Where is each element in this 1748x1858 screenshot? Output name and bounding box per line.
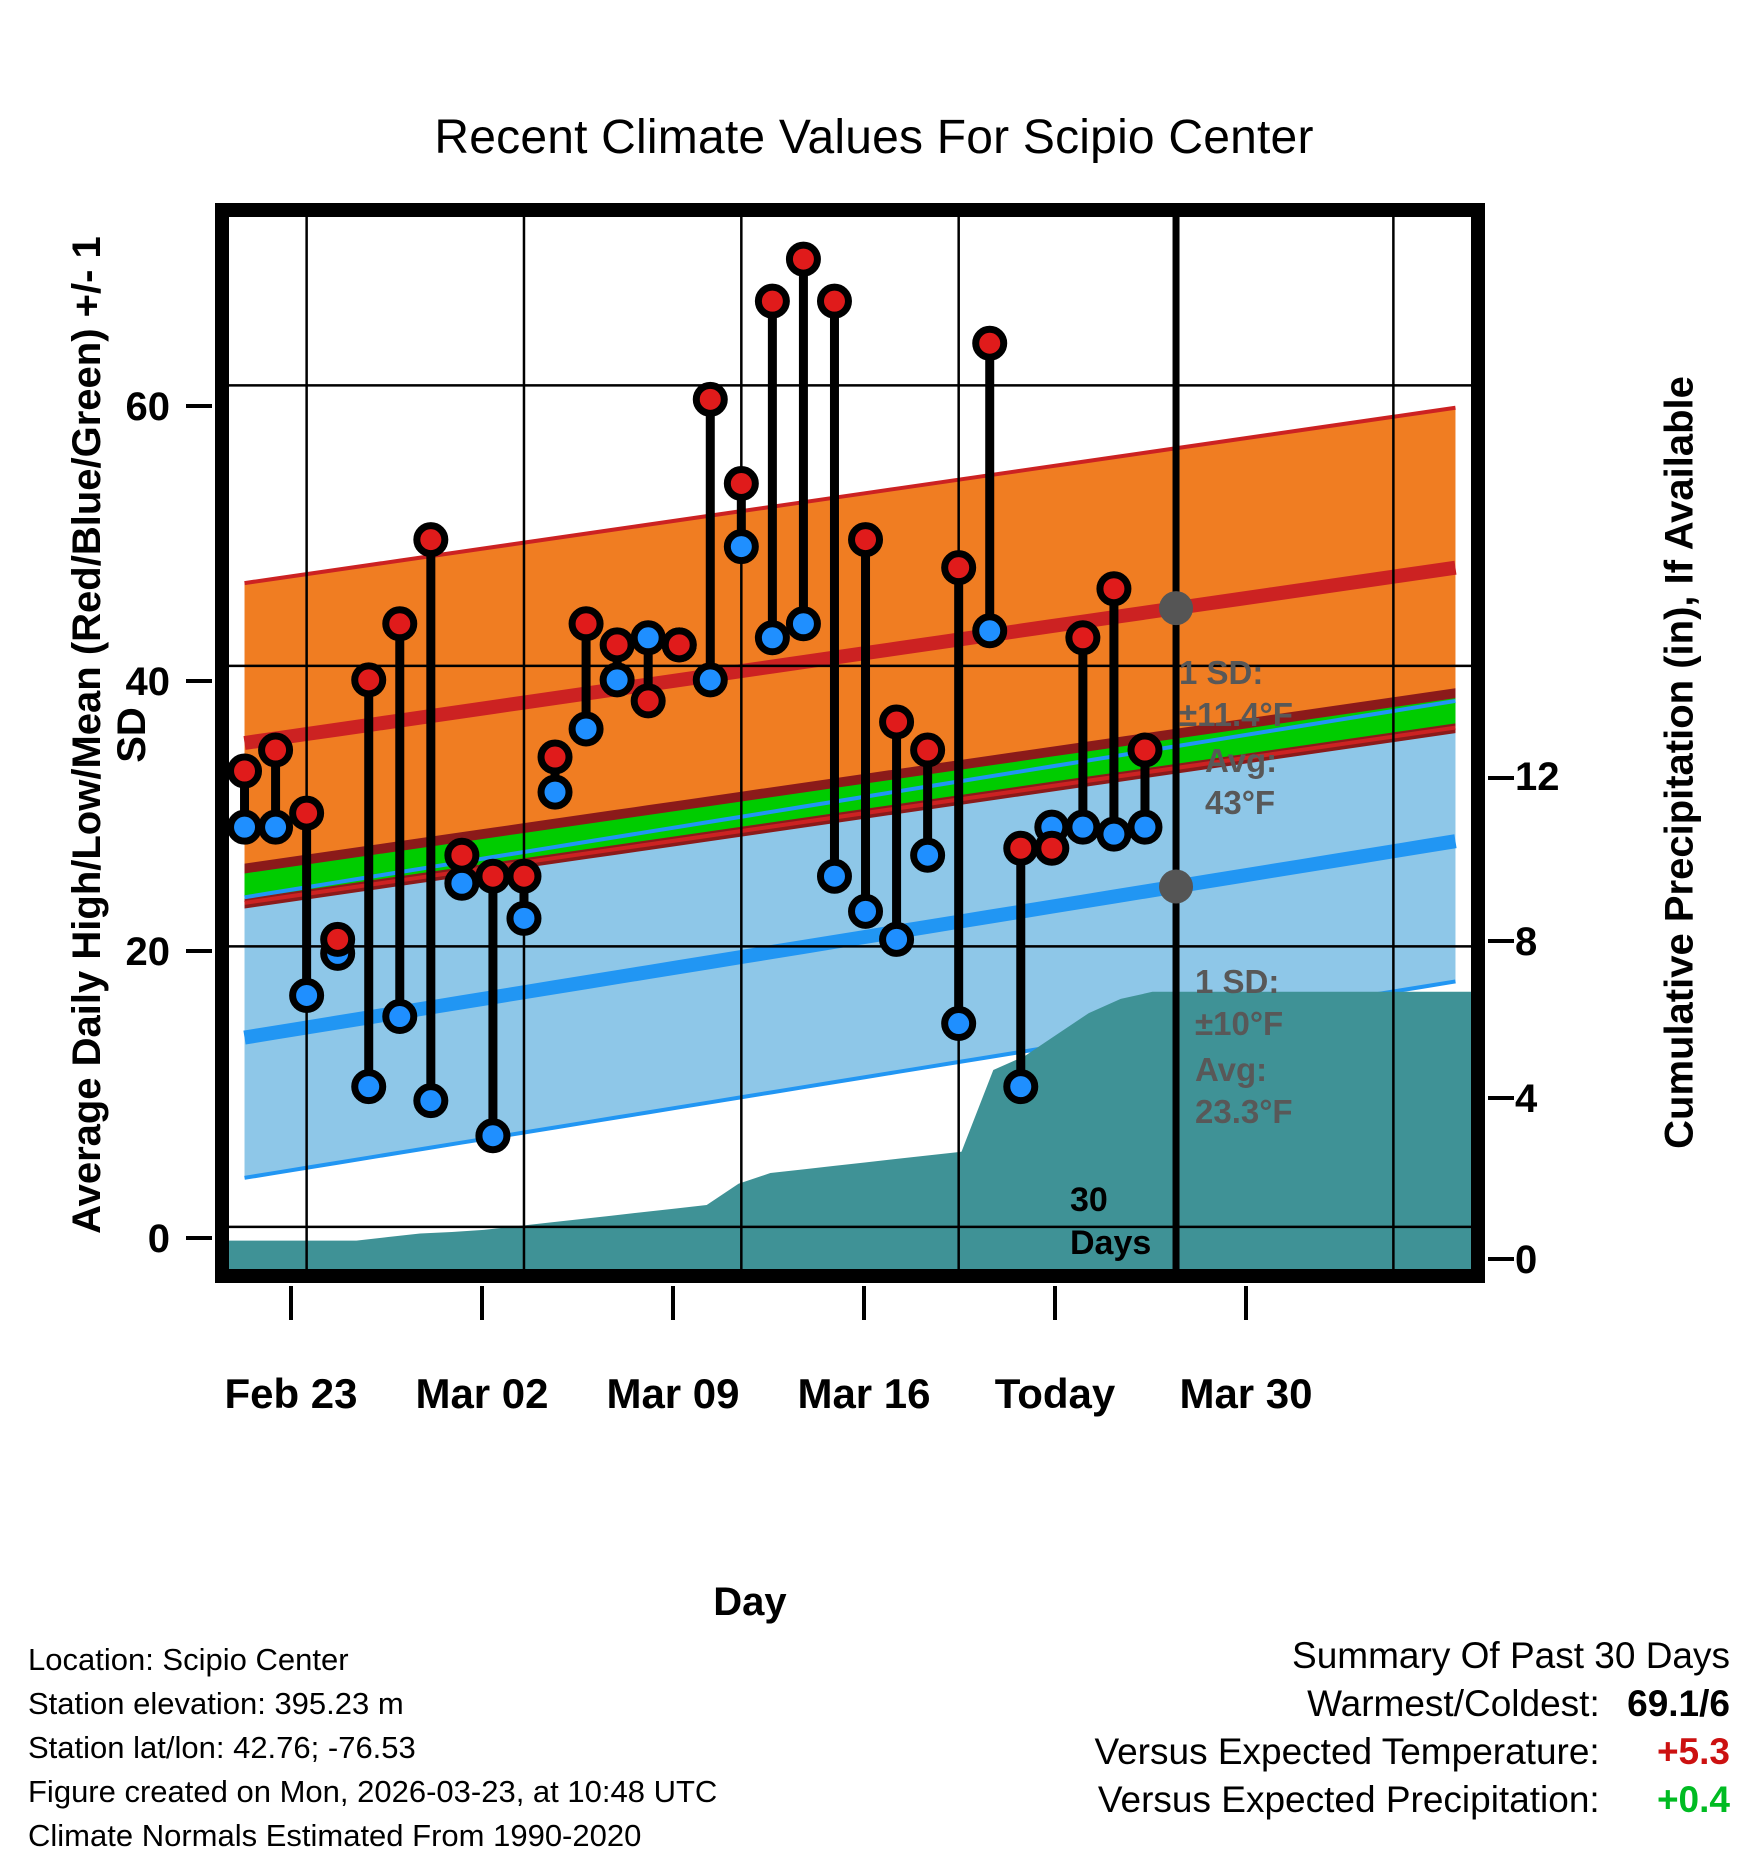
climate-plot (215, 203, 1485, 1283)
y-tick-mark-left-60 (186, 404, 212, 408)
high-avg-label: Avg: (1205, 742, 1277, 780)
y-tick-right-0: 0 (1515, 1238, 1645, 1283)
x-tick-mark-mar-16 (862, 1286, 866, 1320)
page-title: Recent Climate Values For Scipio Center (0, 110, 1748, 165)
y-tick-right-8: 8 (1515, 920, 1645, 965)
high-avg-value: 43°F (1205, 784, 1275, 822)
summary-panel: Summary Of Past 30 Days Warmest/Coldest:… (1094, 1632, 1730, 1824)
y-tick-left-60: 60 (40, 385, 170, 430)
x-tick-mark-feb-23 (289, 1286, 293, 1320)
y-tick-mark-right-4 (1488, 1096, 1514, 1100)
x-axis-label: Day (0, 1580, 1500, 1625)
x-tick-mark-today (1053, 1286, 1057, 1320)
y-axis-right-label: Cumulative Precipitation (in), If Availa… (1658, 263, 1703, 1263)
y-tick-left-40: 40 (40, 660, 170, 705)
y-tick-right-4: 4 (1515, 1077, 1645, 1122)
x-tick-mark-mar-09 (671, 1286, 675, 1320)
x-tick-mark-mar-30 (1244, 1286, 1248, 1320)
station-info-created: Figure created on Mon, 2026-03-23, at 10… (28, 1770, 717, 1814)
summary-label-vs-temperature: Versus Expected Temperature: (1094, 1731, 1599, 1772)
window-days-line1: 30 (1070, 1181, 1108, 1219)
summary-value-vs-temperature: +5.3 (1610, 1728, 1730, 1776)
y-tick-left-20: 20 (40, 930, 170, 975)
x-tick-mar-30: Mar 30 (1131, 1370, 1361, 1418)
y-tick-left-0: 0 (40, 1217, 170, 1262)
summary-row-warmest-coldest: Warmest/Coldest: 69.1/6 (1094, 1680, 1730, 1728)
y-tick-mark-left-20 (186, 949, 212, 953)
summary-value-vs-precipitation: +0.4 (1610, 1776, 1730, 1824)
low-avg-value: 23.3°F (1195, 1093, 1293, 1131)
y-tick-mark-right-0 (1488, 1257, 1514, 1261)
high-sd-value: ±11.4°F (1179, 696, 1293, 734)
high-sd-label: 1 SD: (1179, 654, 1263, 692)
x-tick-mark-mar-02 (480, 1286, 484, 1320)
low-avg-label: Avg: (1195, 1051, 1267, 1089)
summary-row-vs-precipitation: Versus Expected Precipitation: +0.4 (1094, 1776, 1730, 1824)
station-info-latlon: Station lat/lon: 42.76; -76.53 (28, 1726, 717, 1770)
y-tick-mark-right-12 (1488, 776, 1514, 780)
summary-value-warmest-coldest: 69.1/6 (1610, 1680, 1730, 1728)
station-info-elevation: Station elevation: 395.23 m (28, 1682, 717, 1726)
summary-row-vs-temperature: Versus Expected Temperature: +5.3 (1094, 1728, 1730, 1776)
summary-label-vs-precipitation: Versus Expected Precipitation: (1098, 1779, 1600, 1820)
y-tick-mark-right-8 (1488, 939, 1514, 943)
plot-frame (215, 203, 1485, 1283)
low-sd-label: 1 SD: (1195, 963, 1279, 1001)
station-info-location: Location: Scipio Center (28, 1638, 717, 1682)
y-tick-mark-left-40 (186, 679, 212, 683)
y-tick-mark-left-0 (186, 1236, 212, 1240)
summary-label-warmest-coldest: Warmest/Coldest: (1307, 1683, 1600, 1724)
low-sd-value: ±10°F (1195, 1005, 1283, 1043)
station-info: Location: Scipio Center Station elevatio… (28, 1638, 717, 1858)
station-info-normals: Climate Normals Estimated From 1990-2020 (28, 1814, 717, 1858)
y-tick-right-12: 12 (1515, 755, 1645, 800)
summary-heading: Summary Of Past 30 Days (1094, 1632, 1730, 1680)
window-days-line2: Days (1070, 1224, 1151, 1262)
